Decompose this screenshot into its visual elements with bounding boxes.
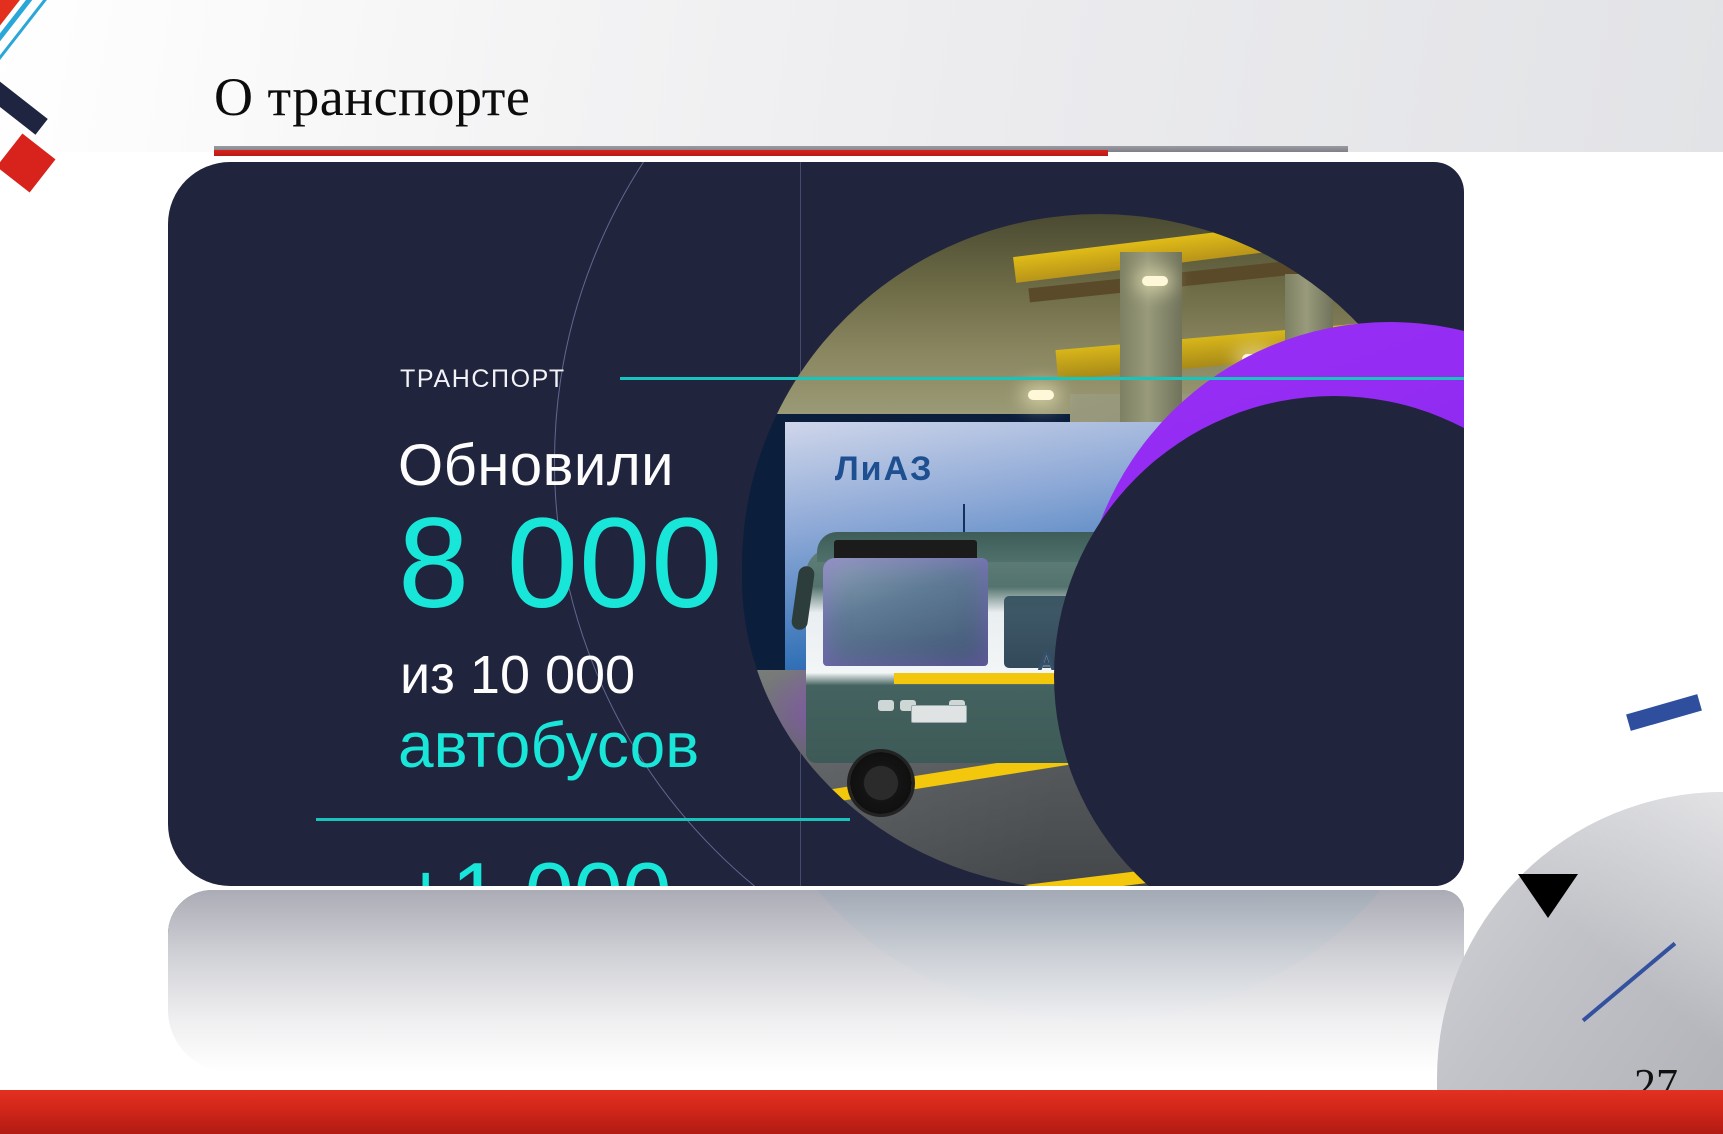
slide-canvas: О транспорте +1 000 обновим в 2020	[0, 0, 1723, 1134]
content-card: ЛиАЗ	[168, 162, 1464, 886]
reflection-fade-overlay	[168, 890, 1464, 1072]
black-triangle-pointer	[1518, 874, 1578, 918]
middle-rule	[316, 818, 850, 821]
lead-text: Обновили	[398, 432, 674, 499]
bus-windshield	[823, 558, 988, 666]
blue-slash-decoration	[1626, 694, 1702, 731]
gray-corner-wedge-highlight	[1437, 792, 1723, 1092]
sub-line-2: автобусов	[398, 708, 699, 782]
bus-license-plate	[911, 705, 967, 723]
card-reflection: +1 000 обновим в 2020	[168, 890, 1464, 1072]
plus-number: +1 000	[400, 850, 672, 886]
title-rule-red	[214, 150, 1108, 156]
depot-lamp	[1142, 276, 1168, 286]
bottom-red-bar	[0, 1090, 1723, 1134]
page-title: О транспорте	[214, 70, 530, 124]
card-kicker-label: ТРАНСПОРТ	[400, 365, 566, 394]
banner-logo: ЛиАЗ	[835, 450, 934, 489]
sub-line-1: из 10 000	[400, 644, 635, 706]
content-card-inner: ЛиАЗ	[168, 162, 1464, 886]
kicker-rule	[620, 377, 1464, 380]
bus-front-wheel	[850, 752, 912, 814]
bus-headlight-1	[878, 700, 894, 711]
depot-lamp-3	[1028, 390, 1054, 400]
big-number: 8 000	[398, 500, 723, 628]
